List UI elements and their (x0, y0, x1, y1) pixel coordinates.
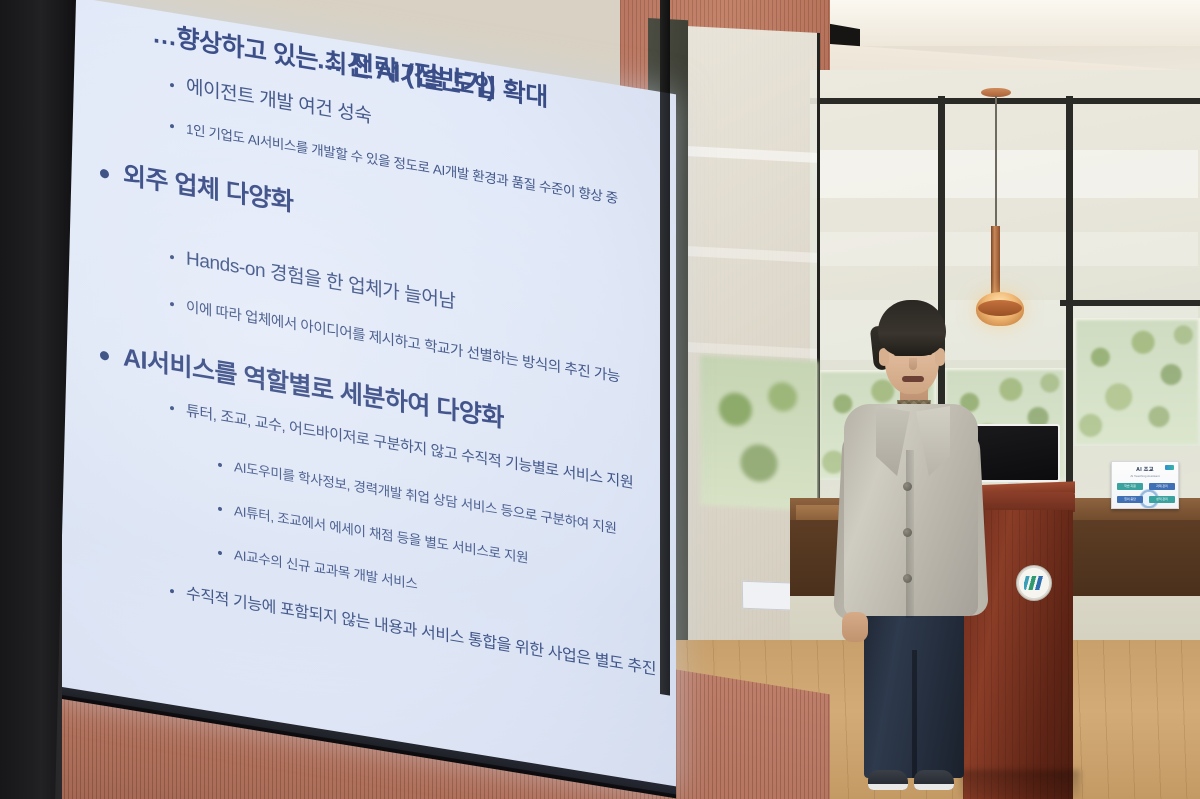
hand-left (842, 612, 868, 642)
jacket-button-2 (903, 528, 912, 537)
photo-scene: AI 조교 AI Teaching Assistant 학습 지원 과제 관리 … (0, 0, 1200, 799)
trouser-inseam (912, 650, 917, 778)
window-mullion-mid (1060, 300, 1200, 306)
glass-reflection-2 (812, 232, 1198, 266)
jacket-button-1 (903, 482, 912, 491)
poster-chip-1: 과제 관리 (1149, 483, 1175, 490)
bullet-icon-7 (170, 406, 174, 411)
window-mullion-v2 (1066, 96, 1073, 496)
poster-chip-2: 질의 응답 (1117, 496, 1143, 503)
shoe-right (914, 770, 954, 790)
slide-line-3-text: 외주 업체 다양화 (123, 161, 293, 217)
slide-line-1-text: 에이전트 개발 여건 성숙 (186, 76, 371, 127)
shoe-left (868, 770, 908, 790)
poster-chip-grid: 학습 지원 과제 관리 질의 응답 성적 관리 (1117, 481, 1173, 509)
bullet-icon-6 (100, 350, 109, 360)
glass-reflection-1 (812, 150, 1198, 198)
bullet-icon-11 (170, 589, 174, 594)
bullet-icon-9 (218, 507, 222, 512)
slide-content: … 전략 (전반기) …향상하고 있는 최신 AI기술 도입 확대 에이전트 개… (66, 0, 666, 773)
poster-chip-3: 성적 관리 (1149, 496, 1175, 503)
poster-chip-0: 학습 지원 (1117, 483, 1143, 490)
slide-line-11: 수직적 기능에 포함되지 않는 내용과 서비스 통합을 위한 사업은 별도 추진 (170, 577, 656, 681)
slide-line-11-text: 수직적 기능에 포함되지 않는 내용과 서비스 통합을 위한 사업은 별도 추진 (186, 585, 656, 678)
shoe-sole-left (868, 784, 908, 790)
pendant-lamp-stem (991, 226, 1000, 300)
partition-shelf-line-1 (686, 146, 817, 163)
bullet-icon-4 (170, 255, 174, 260)
nose (909, 358, 917, 370)
poster-logo-icon (1165, 465, 1174, 470)
presenter (830, 300, 990, 799)
emblem-wave-mark (1024, 576, 1044, 590)
partition-foliage-reflection (700, 355, 818, 511)
pendant-lamp-cord (995, 96, 997, 226)
projection-screen: … 전략 (전반기) …향상하고 있는 최신 AI기술 도입 확대 에이전트 개… (0, 0, 690, 799)
jacket-button-3 (903, 574, 912, 583)
slide-line-10: AI교수의 신규 교과목 개발 서비스 (218, 541, 418, 593)
bullet-icon-1 (170, 83, 174, 88)
window-mullion-top (810, 98, 1200, 104)
university-emblem-icon (1016, 565, 1052, 601)
shoe-sole-right (914, 784, 954, 790)
bullet-icon-5 (170, 302, 174, 307)
hair (878, 300, 946, 356)
poster-subtitle: AI Teaching Assistant (1117, 474, 1173, 478)
bullet-icon-8 (218, 463, 222, 468)
partition-shelf-line-2 (686, 246, 817, 263)
slide-line-10-text: AI교수의 신규 교과목 개발 서비스 (234, 547, 418, 592)
bullet-icon-2 (170, 124, 174, 129)
bullet-icon-10 (218, 551, 222, 556)
ai-assistant-poster: AI 조교 AI Teaching Assistant 학습 지원 과제 관리 … (1111, 461, 1179, 509)
bullet-icon-3 (100, 168, 109, 178)
mouth (902, 376, 924, 382)
slide-line-3: 외주 업체 다양화 (100, 152, 293, 219)
window-foliage-right (1076, 320, 1198, 444)
